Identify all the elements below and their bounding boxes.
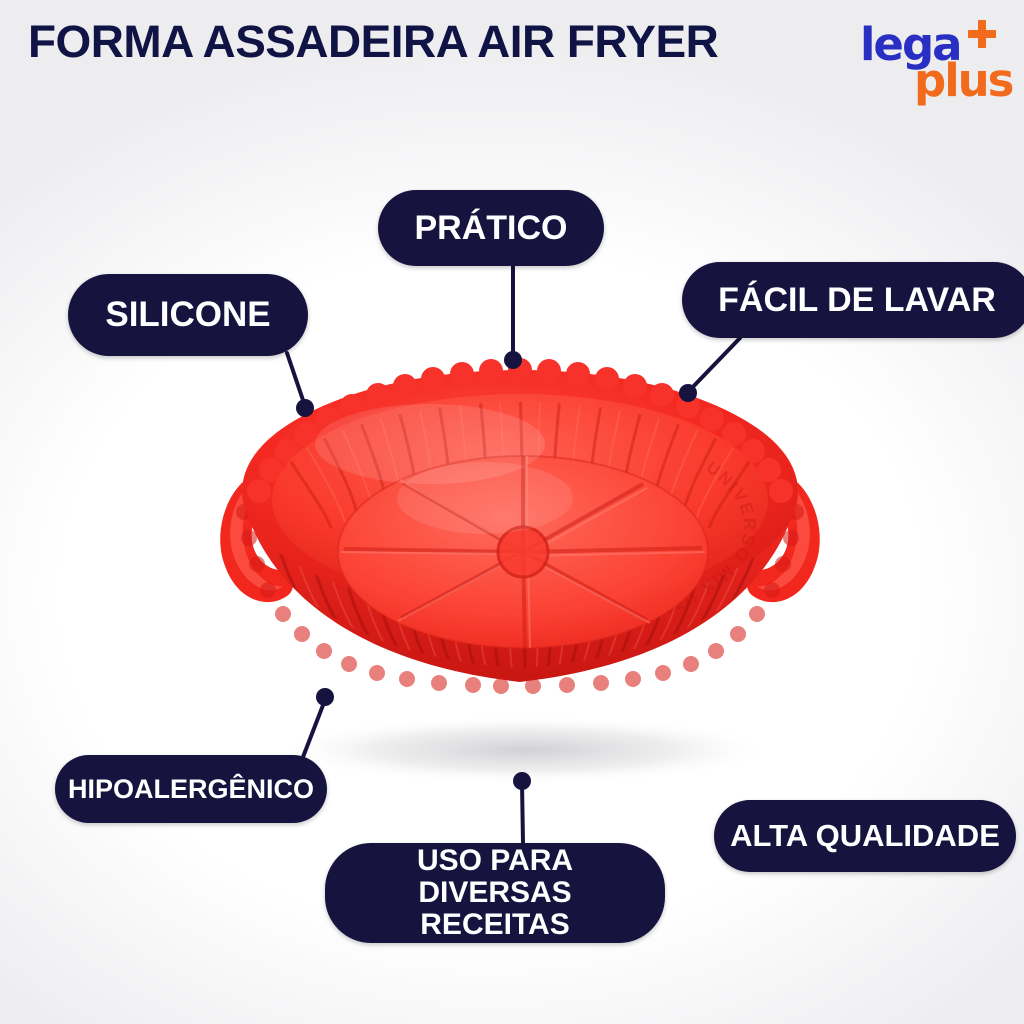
- product-highlight: [315, 404, 545, 484]
- callout-label: ALTA QUALIDADE: [730, 820, 1000, 853]
- callout-label: HIPOALERGÊNICO: [68, 775, 314, 804]
- callout-label: PRÁTICO: [415, 210, 568, 246]
- callout-label-line1: USO PARA DIVERSAS: [417, 844, 573, 909]
- callout-label: FÁCIL DE LAVAR: [718, 282, 996, 318]
- callout-label-line2: RECEITAS: [420, 908, 569, 941]
- callout-badge-alta-qualidade[interactable]: ALTA QUALIDADE: [714, 800, 1016, 872]
- header: FORMA ASSADEIRA AIR FRYER lega plus: [0, 0, 1024, 120]
- callout-badge-silicone[interactable]: SILICONE: [68, 274, 308, 356]
- connector-line-uso: [522, 783, 523, 843]
- product-shadow: [275, 716, 775, 782]
- callout-badge-hipoalergenico[interactable]: HIPOALERGÊNICO: [55, 755, 327, 823]
- callout-label: SILICONE: [105, 296, 270, 333]
- brand-logo: lega plus: [848, 18, 1024, 114]
- callout-badge-uso-para-diversas-receitas[interactable]: USO PARA DIVERSAS RECEITAS: [325, 843, 665, 943]
- product-image: UNIVERSO MIX UTILIDADES •: [195, 352, 845, 782]
- brand-logo-secondary-text: plus: [914, 58, 1012, 103]
- product-feature-infographic: FORMA ASSADEIRA AIR FRYER lega plus: [0, 0, 1024, 1024]
- plus-cross-icon: [967, 20, 997, 50]
- callout-badge-facil-de-lavar[interactable]: FÁCIL DE LAVAR: [682, 262, 1024, 338]
- bowl-base: [338, 456, 708, 648]
- callout-badge-pratico[interactable]: PRÁTICO: [378, 190, 604, 266]
- page-title: FORMA ASSADEIRA AIR FRYER: [28, 16, 718, 68]
- callout-label-multiline: USO PARA DIVERSAS RECEITAS: [339, 845, 651, 940]
